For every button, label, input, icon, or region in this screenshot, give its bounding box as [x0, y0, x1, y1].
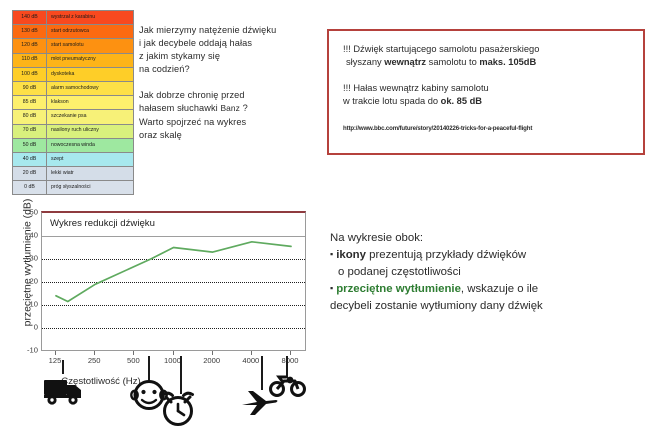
chart-example-icons: [0, 360, 320, 447]
source-url-link[interactable]: http://www.bbc.com/future/story/20140226…: [343, 122, 631, 135]
x-tick-mark: [55, 351, 56, 355]
db-source-cell: dyskoteka: [47, 67, 134, 81]
db-source-cell: nowoczesna winda: [47, 138, 134, 152]
intro-line-brand: hałasem słuchawki Banz ?: [139, 102, 319, 115]
db-value-cell: 80 dB: [13, 110, 47, 124]
db-source-cell: nasilony ruch uliczny: [47, 124, 134, 138]
y-tick-label: 50: [22, 208, 38, 217]
db-value-cell: 85 dB: [13, 96, 47, 110]
callout-line: !!! Hałas wewnątrz kabiny samolotu: [343, 82, 631, 95]
db-scale-row: 70 dBnasilony ruch uliczny: [13, 124, 134, 138]
explanation-item-1-rest: prezentują przykłady dźwięków: [366, 249, 526, 261]
db-value-cell: 40 dB: [13, 152, 47, 166]
attenuation-series-polyline: [56, 242, 291, 302]
callout-content: !!! Dźwięk startującego samolotu pasażer…: [329, 31, 643, 135]
db-value-cell: 70 dB: [13, 124, 47, 138]
brand-name: Banz: [220, 103, 240, 113]
db-scale-row: 120 dBstart samolotu: [13, 39, 134, 53]
explanation-item-1-line-2: o podanej częstotliwości: [330, 264, 660, 280]
y-tick-label: 10: [22, 300, 38, 309]
db-value-cell: 120 dB: [13, 39, 47, 53]
y-tick-label: 0: [22, 323, 38, 332]
intro-line: z jakim stykamy się: [139, 50, 319, 63]
db-value-cell: 130 dB: [13, 25, 47, 39]
chart-explanation-block: Na wykresie obok: ▪ikony prezentują przy…: [330, 230, 660, 314]
db-source-cell: start samolotu: [47, 39, 134, 53]
db-scale-row: 20 dBlekki wiatr: [13, 167, 134, 181]
truck-icon: [44, 377, 86, 407]
x-tick-mark: [133, 351, 134, 355]
db-scale-row: 85 dBklakson: [13, 96, 134, 110]
db-scale-row: 50 dBnowoczesna winda: [13, 138, 134, 152]
x-tick-mark: [251, 351, 252, 355]
db-source-cell: alarm samochodowy: [47, 81, 134, 95]
intro-line: Jak dobrze chronię przed: [139, 89, 319, 102]
db-source-cell: młot pneumatyczny: [47, 53, 134, 67]
chart-plot-area: Wykres redukcji dźwięku: [41, 211, 306, 351]
db-scale-row: 90 dBalarm samochodowy: [13, 81, 134, 95]
db-scale-table: 140 dBwystrzał z karabinu130 dBstart odr…: [12, 10, 134, 195]
intro-text-block: Jak mierzymy natężenie dźwięku i jak dec…: [139, 24, 319, 142]
paragraph-spacer: [139, 76, 319, 89]
db-source-cell: szczekanie psa: [47, 110, 134, 124]
callout-emphasis: wewnątrz: [384, 57, 426, 67]
x-tick-mark: [290, 351, 291, 355]
intro-line: oraz skalę: [139, 129, 319, 142]
leader-line-truck: [62, 360, 64, 374]
explanation-item-2-rest: , wskazuje o ile: [461, 283, 538, 295]
y-tick-label: 20: [22, 277, 38, 286]
chart-series-line: [42, 213, 305, 351]
intro-line: na codzień?: [139, 63, 319, 76]
explanation-heading: Na wykresie obok:: [330, 230, 660, 246]
db-scale-row: 110 dBmłot pneumatyczny: [13, 53, 134, 67]
db-source-cell: szept: [47, 152, 134, 166]
db-value-cell: 20 dB: [13, 167, 47, 181]
warning-callout-box: !!! Dźwięk startującego samolotu pasażer…: [327, 29, 645, 155]
y-tick-label: 40: [22, 231, 38, 240]
db-scale-body: 140 dBwystrzał z karabinu130 dBstart odr…: [13, 11, 134, 195]
db-value-cell: 110 dB: [13, 53, 47, 67]
callout-emphasis: ok. 85 dB: [441, 96, 482, 106]
db-scale-row: 80 dBszczekanie psa: [13, 110, 134, 124]
alarm-clock-icon: [160, 391, 196, 427]
db-source-cell: próg słyszalności: [47, 181, 134, 195]
callout-text: samolotu to: [426, 57, 479, 67]
intro-line: i jak decybele oddają hałas: [139, 37, 319, 50]
db-scale-row: 40 dBszept: [13, 152, 134, 166]
callout-emphasis: maks. 105dB: [479, 57, 536, 67]
db-source-cell: wystrzał z karabinu: [47, 11, 134, 25]
chart-y-axis-ticks: 50403020100-10: [22, 211, 38, 351]
explanation-item-2: ▪przeciętne wytłumienie, wskazuje o ile: [330, 280, 660, 297]
intro-brand-suffix: ?: [243, 103, 248, 113]
sound-reduction-chart: przeciętne wytłumienie (dB) 50403020100-…: [0, 205, 320, 365]
explanation-item-2-green: przeciętne wytłumienie: [336, 283, 461, 295]
leader-line-airplane: [261, 356, 263, 390]
db-source-cell: klakson: [47, 96, 134, 110]
db-source-cell: lekki wiatr: [47, 167, 134, 181]
x-tick-mark: [94, 351, 95, 355]
intro-brand-prefix: hałasem słuchawki: [139, 103, 218, 113]
db-scale-row: 130 dBstart odrzutowca: [13, 25, 134, 39]
db-value-cell: 90 dB: [13, 81, 47, 95]
callout-line: !!! Dźwięk startującego samolotu pasażer…: [343, 43, 631, 56]
callout-line: w trakcie lotu spada do ok. 85 dB: [343, 95, 631, 108]
intro-line: Jak mierzymy natężenie dźwięku: [139, 24, 319, 37]
callout-spacer: [343, 70, 631, 82]
explanation-item-2-line-2: decybeli zostanie wytłumiony dany dźwięk: [330, 298, 660, 314]
db-value-cell: 140 dB: [13, 11, 47, 25]
explanation-item-1-bold: ikony: [336, 249, 366, 261]
callout-text: w trakcie lotu spada do: [343, 96, 441, 106]
y-tick-label: 30: [22, 254, 38, 263]
motorcycle-icon: [268, 374, 308, 398]
y-tick-label: -10: [22, 346, 38, 355]
db-scale-row: 100 dBdyskoteka: [13, 67, 134, 81]
x-tick-mark: [173, 351, 174, 355]
bullet-icon: ▪: [330, 283, 333, 293]
db-scale-row: 140 dBwystrzał z karabinu: [13, 11, 134, 25]
callout-text: słyszany: [346, 57, 384, 67]
intro-line: Warto spojrzeć na wykres: [139, 116, 319, 129]
leader-line-clock: [180, 356, 182, 394]
x-tick-mark: [212, 351, 213, 355]
db-value-cell: 50 dB: [13, 138, 47, 152]
explanation-item-1: ▪ikony prezentują przykłady dźwięków: [330, 246, 660, 263]
db-source-cell: start odrzutowca: [47, 25, 134, 39]
bullet-icon: ▪: [330, 249, 333, 259]
callout-line: słyszany wewnątrz samolotu to maks. 105d…: [343, 56, 631, 69]
db-value-cell: 100 dB: [13, 67, 47, 81]
